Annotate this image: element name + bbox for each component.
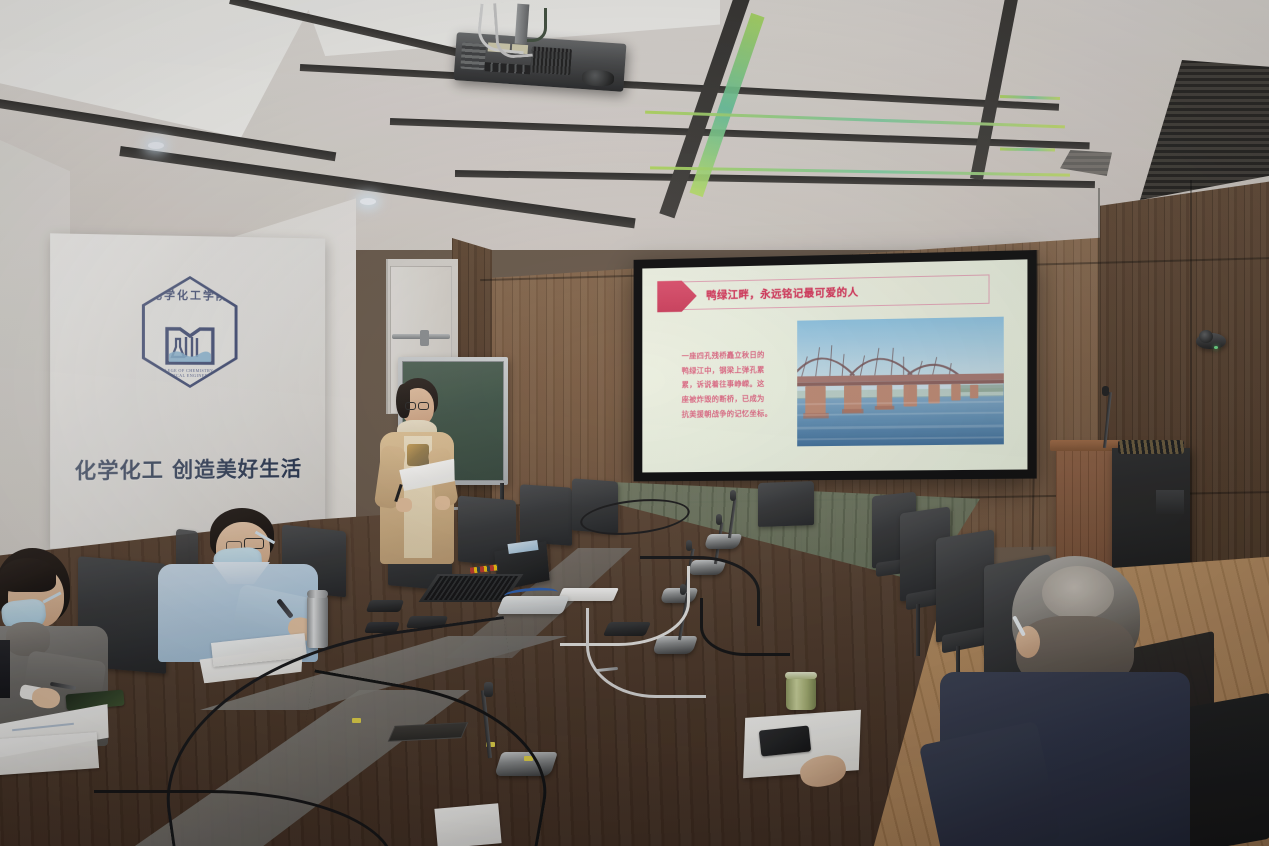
- presenter-glasses: [405, 402, 416, 410]
- slide-body-line: 累，诉说着往事峥嵘。这: [682, 377, 777, 393]
- ceiling-vent-grille: [1060, 150, 1112, 176]
- ceiling-downlight: [148, 142, 164, 149]
- microphone-capsule: [686, 540, 692, 551]
- camera-status-led: [1214, 346, 1218, 349]
- av-rack-panel: [1156, 490, 1184, 514]
- wall-banner: 化学化工学院 COLLEGE OF CHEMISTRY AND CHEMICAL…: [50, 233, 325, 548]
- ceiling-vent-grille: [1140, 60, 1269, 200]
- attendee-right-phone[interactable]: [759, 725, 811, 756]
- slide-photo-yalu-bridge: [797, 317, 1003, 447]
- thermos-flask[interactable]: [307, 594, 328, 648]
- av-cables: [1118, 440, 1184, 454]
- slide: 鸭绿江畔，永远铭记最可爱的人 一座四孔残桥矗立秋日的 鸭绿江中，钢梁上弹孔累 累…: [642, 259, 1027, 472]
- logo-book-flask-icon: [164, 323, 216, 365]
- college-logo: 化学化工学院 COLLEGE OF CHEMISTRY AND CHEMICAL…: [142, 275, 238, 388]
- attendee-right-scalp: [1042, 566, 1114, 620]
- ceiling-band: [659, 0, 756, 218]
- ceiling-band: [119, 146, 635, 228]
- presenter-hair-side: [396, 384, 410, 418]
- ceiling-light-panel: [0, 0, 320, 138]
- camera-lens-icon: [1199, 330, 1213, 343]
- microphone-capsule: [730, 490, 736, 501]
- presenter-glasses: [418, 402, 429, 410]
- ceiling-band: [300, 64, 1059, 111]
- tissue-pack[interactable]: [434, 803, 501, 846]
- microphone-capsule: [716, 514, 722, 525]
- attendee-left-inner-collar: [0, 640, 10, 698]
- conference-room-photo: 化学化工学院 COLLEGE OF CHEMISTRY AND CHEMICAL…: [0, 0, 1269, 846]
- podium-microphone-capsule: [1102, 386, 1109, 396]
- thermos-lid: [307, 590, 328, 598]
- cable-run: [700, 598, 790, 656]
- wall-seam: [1190, 180, 1192, 590]
- adapter-brick: [366, 600, 404, 612]
- banner-slogan: 化学化工 创造美好生活: [50, 453, 325, 486]
- slide-body-line: 抗美援朝战争的记忆坐标。: [682, 407, 777, 423]
- logo-english-name: COLLEGE OF CHEMISTRY AND CHEMICAL ENGINE…: [145, 368, 235, 378]
- logo-chinese-name: 化学化工学院: [145, 286, 235, 303]
- tea-cup-lid: [785, 672, 817, 679]
- slide-body-line: 座被炸毁的断桥，已成为: [682, 392, 777, 408]
- presenter-hand: [396, 498, 412, 512]
- ceiling: [0, 0, 1269, 250]
- projector-lens: [582, 69, 615, 87]
- logo-hex-outer: [142, 275, 238, 388]
- slide-body-text: 一座四孔残桥矗立秋日的 鸭绿江中，钢梁上弹孔累 累，诉说着往事峥嵘。这 座被炸毁…: [682, 348, 777, 423]
- attendee-right: [960, 556, 1190, 846]
- door-handle-icon[interactable]: [420, 330, 429, 346]
- ceiling-band: [970, 0, 1023, 181]
- logo-hex-inner: 化学化工学院 COLLEGE OF CHEMISTRY AND CHEMICAL…: [145, 278, 235, 385]
- projector-keypad: [460, 43, 486, 71]
- presenter-hand: [435, 496, 450, 510]
- projector-vent: [530, 46, 572, 75]
- ceiling-downlight: [360, 198, 376, 205]
- slide-body-line: 一座四孔残桥矗立秋日的: [682, 348, 777, 364]
- tea-cup[interactable]: [786, 676, 816, 710]
- green-tape-strip: [1000, 148, 1055, 152]
- slide-title: 鸭绿江畔，永远铭记最可爱的人: [706, 279, 858, 309]
- green-tape-strip: [1000, 95, 1060, 100]
- presentation-screen[interactable]: 鸭绿江畔，永远铭记最可爱的人 一座四孔残桥矗立秋日的 鸭绿江中，钢梁上弹孔累 累…: [634, 250, 1037, 481]
- attendee-left-scarf: [6, 622, 50, 656]
- presenter-print-motif: [407, 444, 429, 466]
- projector-port-row: [484, 62, 531, 74]
- attendee-left-hair-fringe: [0, 558, 56, 592]
- slide-body-line: 鸭绿江中，钢梁上弹孔累: [682, 363, 777, 379]
